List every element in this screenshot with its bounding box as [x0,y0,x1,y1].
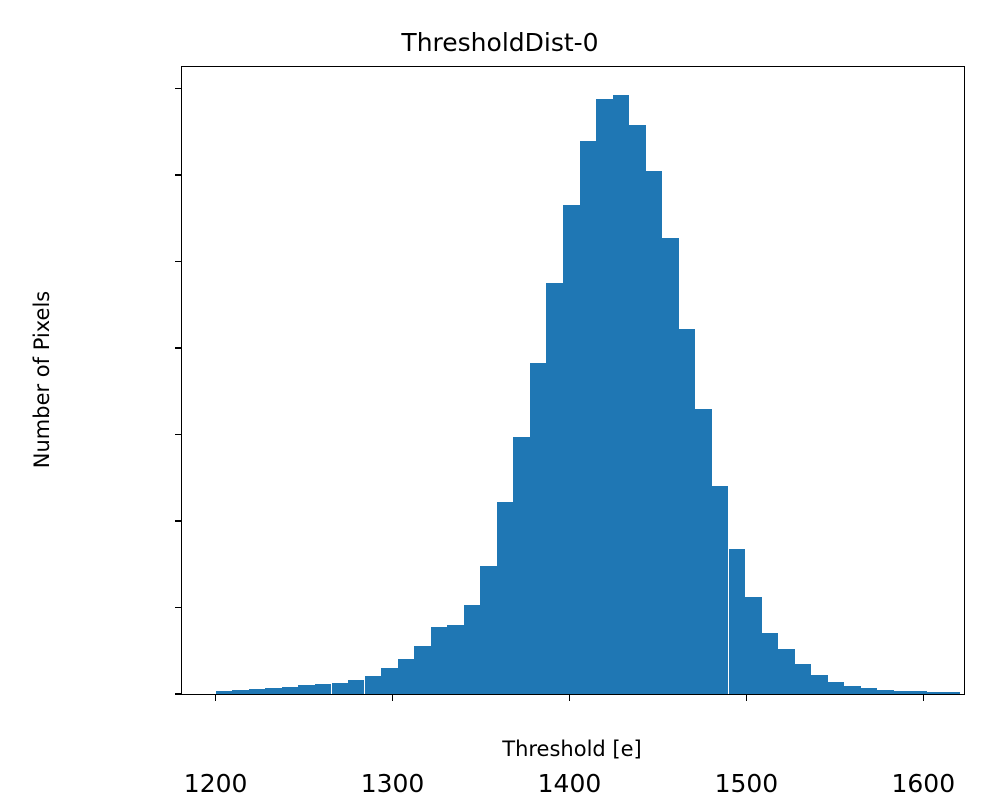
histogram-bar [365,676,382,694]
y-tick-mark [175,607,182,608]
histogram-bar [530,363,547,694]
plot-area: 02000400060008000100001200014000 1200130… [181,66,965,695]
histogram-bar [265,688,282,694]
x-tick-label: 1400 [538,770,602,798]
histogram-bar [679,329,696,694]
histogram-bar [398,659,415,694]
y-tick-mark [175,693,182,694]
x-tick-label: 1600 [891,770,955,798]
x-tick-mark [923,694,924,701]
histogram-bar [894,691,911,694]
histogram-bar [646,171,663,694]
histogram-bar [927,692,944,694]
histogram-bar [513,437,530,694]
histogram-bar [546,283,563,694]
histogram-bar [596,99,613,694]
histogram-bar [877,690,894,694]
x-tick-mark [215,694,216,701]
x-tick-label: 1300 [361,770,425,798]
histogram-bar [249,689,266,694]
histogram-bar [778,649,795,694]
histogram-bar [216,691,233,694]
histogram-bar [910,691,927,694]
histogram-bar [811,675,828,694]
x-tick-mark [746,694,747,701]
histogram-bar [381,668,398,694]
histogram-bar [282,687,299,694]
histogram-bar [795,664,812,694]
histogram-bar [613,95,630,694]
y-tick-mark [175,88,182,89]
x-axis-label: Threshold [e] [181,737,963,761]
histogram-bar [695,409,712,694]
y-tick-mark [175,434,182,435]
histogram-bar [712,486,729,694]
histogram-bar [232,690,249,694]
histogram-bars [182,67,964,694]
x-tick-mark [392,694,393,701]
histogram-bar [580,141,597,694]
histogram-bar [332,683,349,694]
histogram-bar [298,685,315,694]
histogram-bar [431,627,448,694]
histogram-bar [497,502,514,694]
histogram-bar [828,682,845,694]
y-tick-mark [175,174,182,175]
y-tick-mark [175,520,182,521]
histogram-bar [348,680,365,694]
histogram-bar [315,684,332,694]
y-tick-mark [175,347,182,348]
x-tick-label: 1200 [184,770,248,798]
histogram-bar [729,549,746,694]
y-axis-label: Number of Pixels [30,66,54,693]
histogram-figure: ThresholdDist-0 020004000600080001000012… [0,0,1000,800]
histogram-bar [745,597,762,694]
histogram-bar [861,688,878,694]
histogram-bar [563,205,580,694]
x-tick-mark [569,694,570,701]
histogram-bar [629,125,646,694]
histogram-bar [943,692,960,694]
histogram-bar [662,238,679,694]
histogram-bar [762,633,779,694]
x-tick-label: 1500 [715,770,779,798]
histogram-bar [447,625,464,694]
histogram-bar [414,646,431,694]
y-tick-mark [175,261,182,262]
page-title: ThresholdDist-0 [0,28,1000,58]
histogram-bar [480,566,497,694]
histogram-bar [464,605,481,694]
histogram-bar [844,686,861,694]
